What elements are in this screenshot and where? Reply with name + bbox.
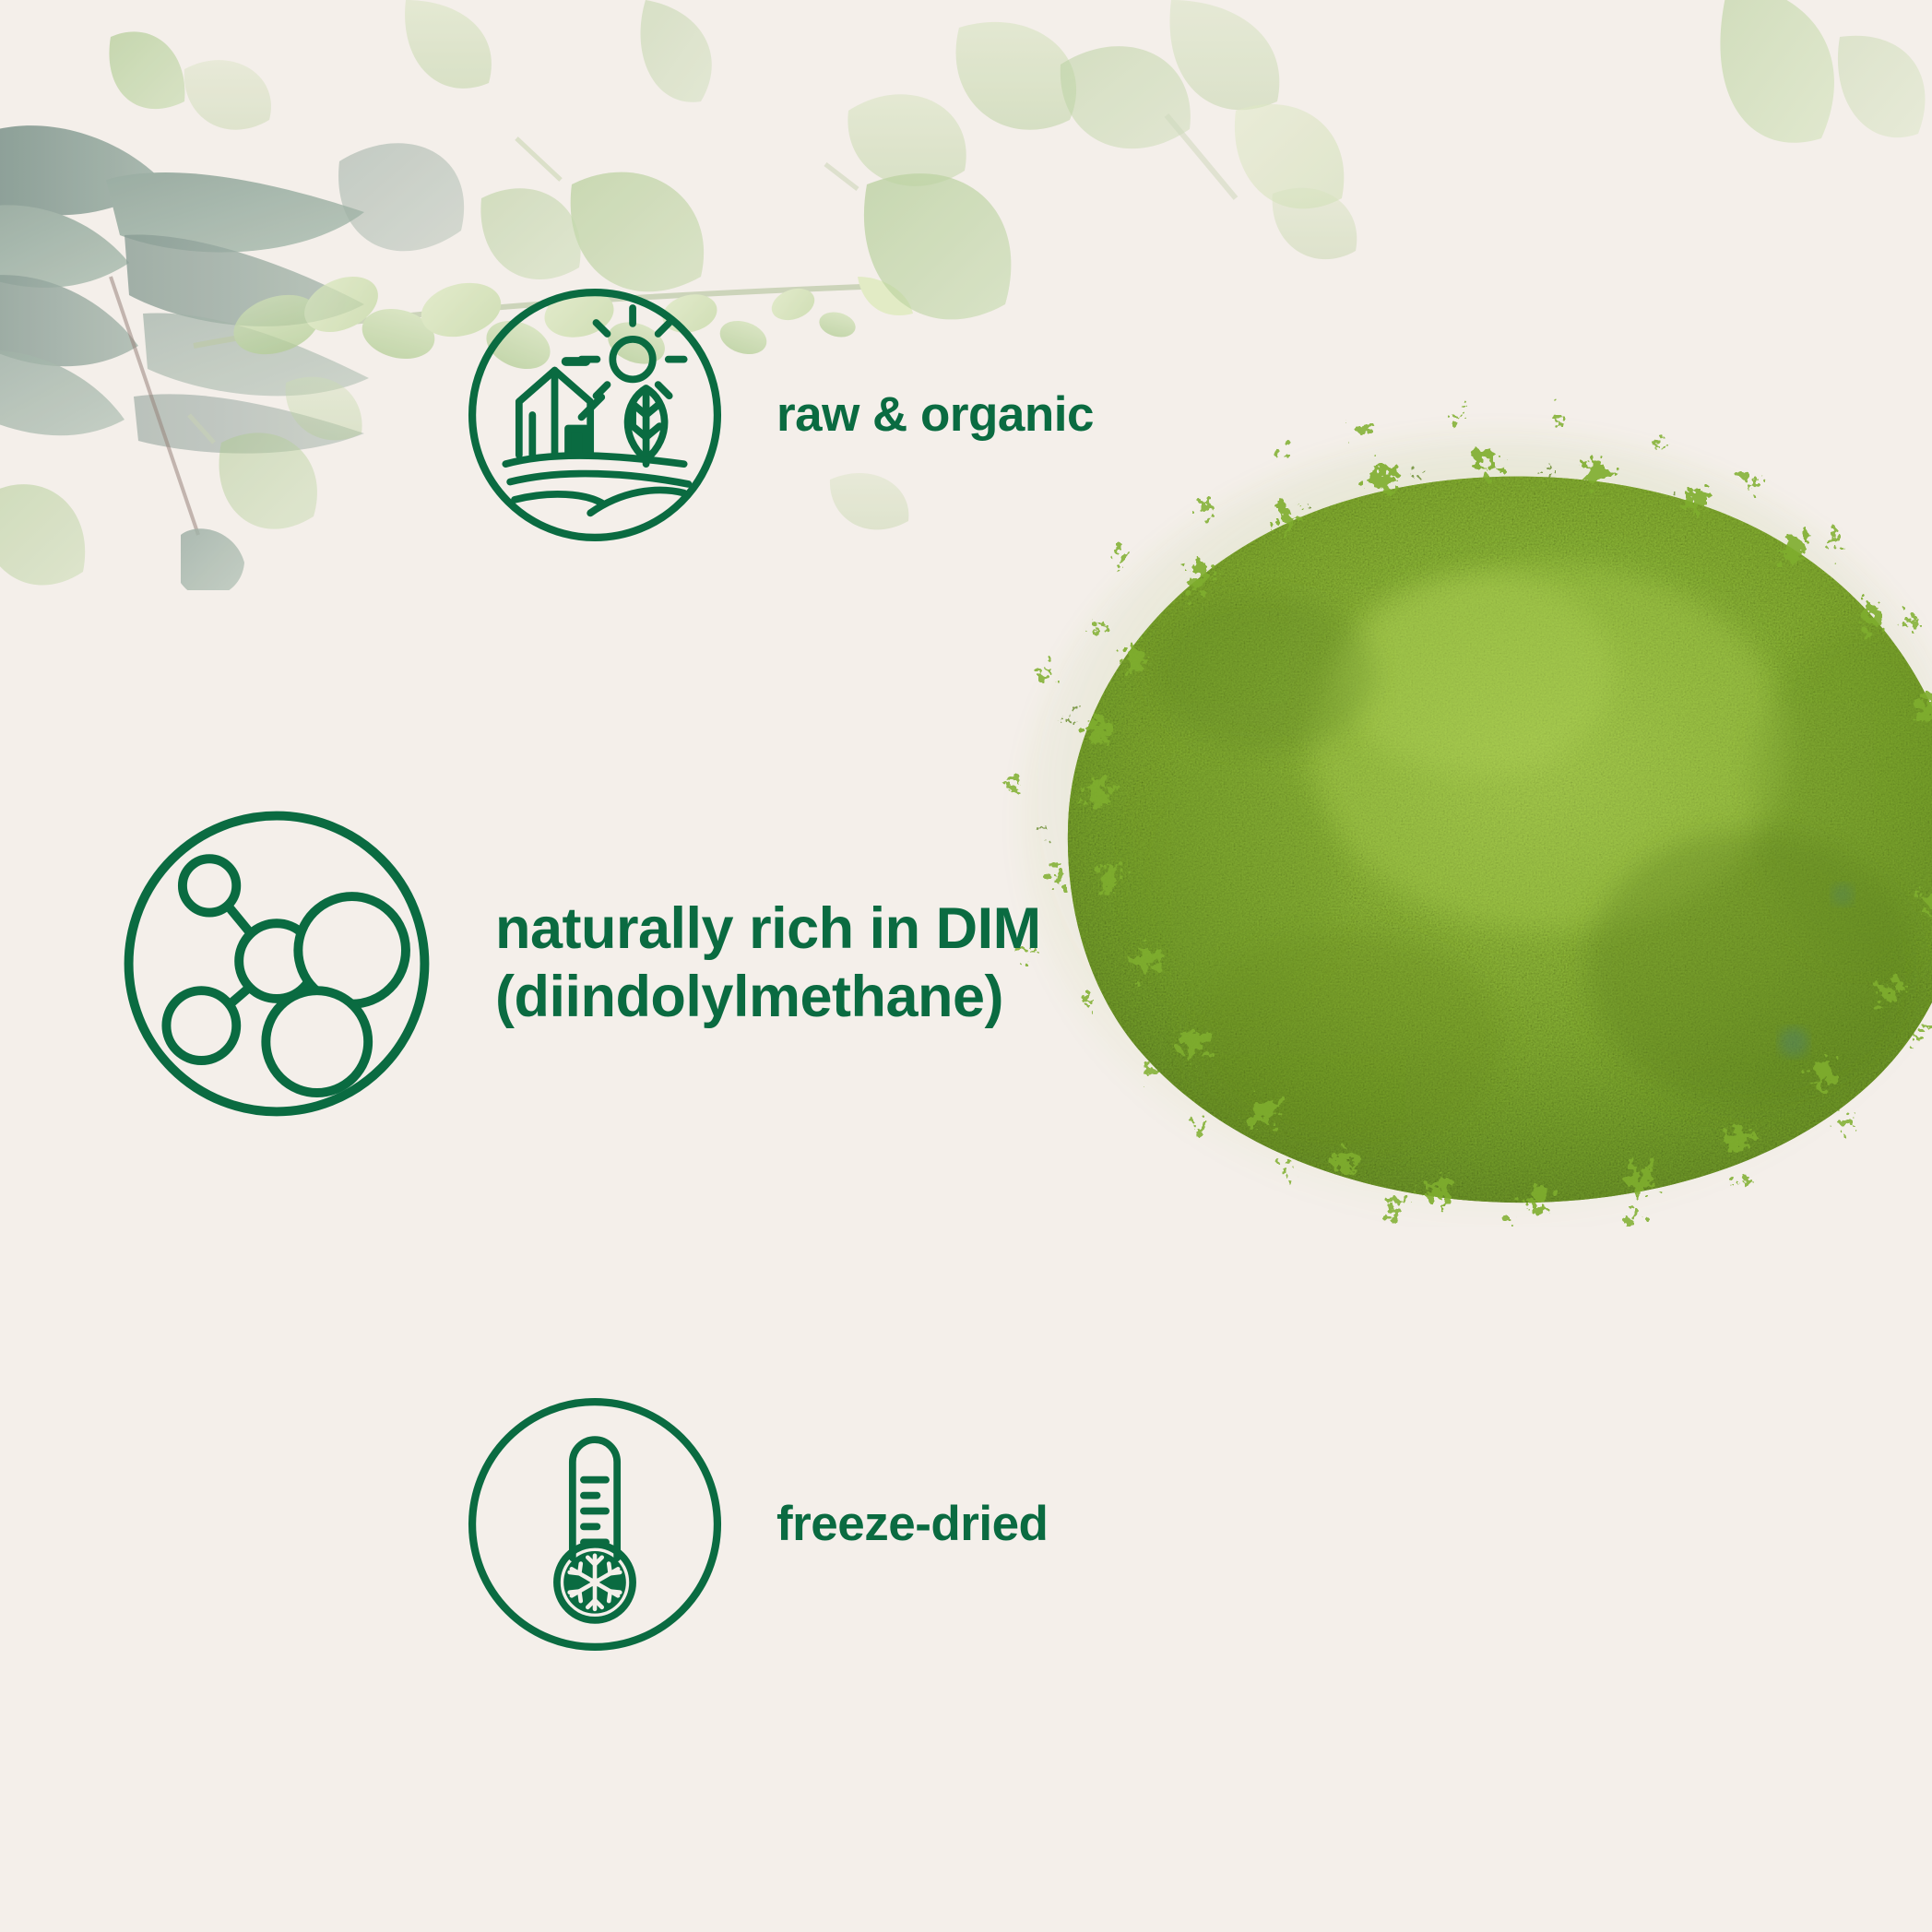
feature-label-dim: naturally rich in DIM (diindolylmethane) [495, 895, 1041, 1031]
feature-label-raw-organic: raw & organic [776, 386, 1094, 444]
feature-raw-organic: raw & organic [461, 281, 1094, 549]
thermometer-snowflake-icon [461, 1391, 729, 1658]
green-powder-pile-image [959, 397, 1932, 1227]
powder-dust-halo [1019, 433, 1932, 1227]
powder-pile-edge-scatter [1085, 452, 1932, 1208]
powder-pile-body [959, 397, 1932, 1227]
feature-label-freeze-dried: freeze-dried [776, 1496, 1048, 1553]
farm-sun-leaf-icon [461, 281, 729, 549]
powder-speckles [1009, 408, 1932, 1227]
feature-freeze-dried: freeze-dried [461, 1391, 1048, 1658]
foliage-right-decoration [1452, 0, 1932, 240]
molecule-icon [115, 802, 438, 1125]
feature-dim: naturally rich in DIM (diindolylmethane) [115, 802, 1041, 1125]
infographic-canvas: raw & organic naturally rich in DIM (dii… [0, 0, 1932, 1932]
leaf-cluster-sage [0, 125, 369, 590]
